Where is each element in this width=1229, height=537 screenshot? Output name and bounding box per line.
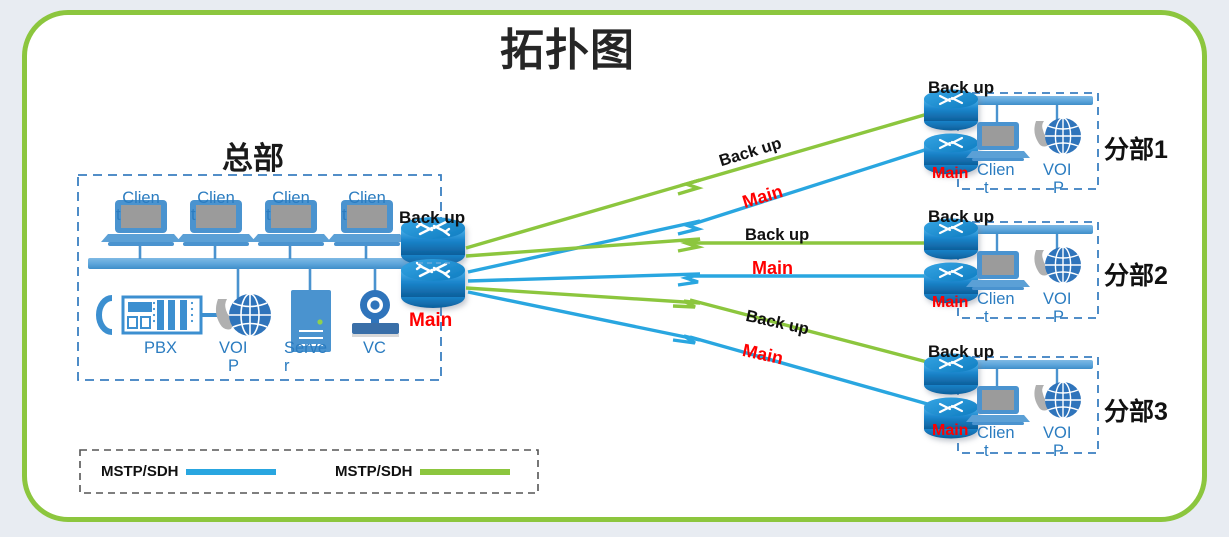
hq-client-1-label-line2: t xyxy=(116,207,121,224)
link-main-branch2 xyxy=(468,274,931,285)
hq-client-2-label: Clien xyxy=(191,190,241,207)
hq-router-backup-label: Back up xyxy=(399,208,465,228)
branch3-voip-globe-icon xyxy=(1034,382,1081,418)
branch3-voip-label: VOI xyxy=(1043,425,1071,442)
legend-item-1-label: MSTP/SDH xyxy=(101,463,179,480)
hq-client-3-label-line2: t xyxy=(266,207,271,224)
hq-client-4-label: Clien xyxy=(342,190,392,207)
branch1-voip-label-line2: P xyxy=(1053,180,1064,197)
branch3-voip-label-line2: P xyxy=(1053,443,1064,460)
hq-client-3-label: Clien xyxy=(266,190,316,207)
hq-router-main-label: Main xyxy=(409,310,452,332)
branch1-voip-globe-icon xyxy=(1034,118,1081,154)
branch2-backup-label: Back up xyxy=(928,207,994,227)
branch2-voip-label-line2: P xyxy=(1053,309,1064,326)
branch1-client-label: Clien xyxy=(977,162,1015,179)
branch1-backup-label: Back up xyxy=(928,78,994,98)
branch2-drop-lines xyxy=(997,234,1057,253)
branch3-client-label: Clien xyxy=(977,425,1015,442)
branch3-backup-label: Back up xyxy=(928,342,994,362)
hq-client-1-label: Clien xyxy=(116,190,166,207)
branch3-main-label: Main xyxy=(932,422,968,440)
vc-label: VC xyxy=(363,340,386,357)
branch2-voip-globe-icon xyxy=(1034,247,1081,283)
branch2-client-label-line2: t xyxy=(984,309,989,326)
branch3-drop-lines xyxy=(997,369,1057,388)
branch1-drop-lines xyxy=(997,105,1057,124)
link-backup-branch2 xyxy=(466,239,931,256)
branch1-main-label: Main xyxy=(932,165,968,183)
branch2-client-label: Clien xyxy=(977,291,1015,308)
branch3-title: 分部3 xyxy=(1104,392,1168,428)
diagram-canvas xyxy=(0,0,1229,537)
branch1-client-label-line2: t xyxy=(984,180,989,197)
video-camera-icon xyxy=(352,290,399,337)
pbx-icon xyxy=(99,297,222,333)
voip-label: VOI xyxy=(219,340,247,357)
legend-item-2-label: MSTP/SDH xyxy=(335,463,413,480)
server-label-line2: r xyxy=(284,358,290,375)
hq-client-2-label-line2: t xyxy=(191,207,196,224)
branch1-voip-label: VOI xyxy=(1043,162,1071,179)
hq-client-1-label-line1: Clien xyxy=(116,190,166,207)
hq-bus xyxy=(88,258,418,269)
hq-title: 总部 xyxy=(222,133,284,178)
link-main-branch2-label: Main xyxy=(752,258,793,279)
link-main-branch1 xyxy=(468,148,931,272)
branch2-title: 分部2 xyxy=(1104,256,1168,292)
branch2-voip-label: VOI xyxy=(1043,291,1071,308)
link-backup-branch3 xyxy=(466,288,931,363)
topology-diagram: 拓扑图 总部 Clien t Clien t Clien t Clien t P… xyxy=(0,0,1229,537)
hq-client-4-label-line2: t xyxy=(342,207,347,224)
link-main-branch3 xyxy=(468,292,931,405)
branch1-title: 分部1 xyxy=(1104,130,1168,166)
voip-label-line2: P xyxy=(228,358,239,375)
page-title: 拓扑图 xyxy=(500,14,635,78)
hq-router-main xyxy=(401,259,465,308)
link-backup-branch2-label: Back up xyxy=(745,226,809,245)
branch2-main-label: Main xyxy=(932,294,968,312)
server-label: Serve xyxy=(284,340,327,357)
branch3-client-label-line2: t xyxy=(984,443,989,460)
voip-globe-icon-hq xyxy=(216,294,271,336)
pbx-label: PBX xyxy=(144,340,177,357)
